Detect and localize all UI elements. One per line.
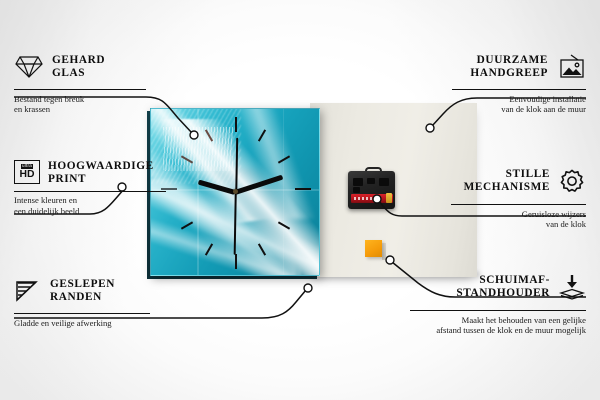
connector-endpoint — [304, 284, 312, 292]
feature-body-line2: van de klok aan de muur — [452, 104, 586, 115]
hour-tick — [235, 254, 237, 269]
feature-title-line2: RANDEN — [50, 291, 115, 304]
battery-label — [354, 197, 380, 200]
movement-slot — [379, 178, 389, 186]
movement-slot — [353, 187, 360, 193]
feature-body-line2: een duidelijk beeld — [14, 206, 166, 217]
feature-title-line1: STILLE — [464, 168, 550, 181]
feature-divider — [451, 204, 586, 205]
second-hand-tail — [235, 137, 237, 192]
feature-body-line1: Maakt het behouden van een gelijke — [410, 315, 586, 326]
feature-body-line1: Bestand tegen breuk — [14, 94, 146, 105]
feature-title-line1: GEHARD — [52, 54, 105, 67]
hour-tick — [295, 188, 311, 190]
clock-movement — [348, 167, 395, 209]
feature-body-line1: Intense kleuren en — [14, 195, 166, 206]
feature-divider — [14, 191, 166, 192]
clock-face — [150, 108, 320, 276]
feature-geslepen-randen: GESLEPEN RANDEN Gladde en veilige afwerk… — [14, 278, 150, 328]
beveled-edges-icon — [14, 278, 42, 309]
feature-duurzame-handgreep: DUURZAME HANDGREEP Eenvoudige installati… — [452, 54, 586, 115]
feature-body-line2: van de klok — [451, 219, 586, 230]
clock-hub — [233, 189, 238, 194]
ultra-hd-large-label: HD — [19, 170, 34, 180]
feature-body-line2: en krassen — [14, 104, 146, 115]
feature-body-line2: afstand tussen de klok en de muur mogeli… — [410, 325, 586, 336]
feature-divider — [452, 89, 586, 90]
feature-title-line2: STANDHOUDER — [456, 287, 550, 300]
feature-divider — [14, 89, 146, 90]
foam-pad-side — [382, 243, 386, 260]
feature-title-line1: HOOGWAARDIGE — [48, 160, 154, 173]
feature-title-line1: DUURZAME — [470, 54, 548, 67]
feature-gehard-glas: GEHARD GLAS Bestand tegen breuk en krass… — [14, 54, 146, 115]
battery-terminal — [386, 193, 392, 203]
hour-tick — [235, 117, 237, 132]
feature-body-line1: Geruisloze wijzers — [451, 209, 586, 220]
feature-body-line1: Gladde en veilige afwerking — [14, 318, 150, 329]
foam-spacer-pad — [365, 240, 382, 257]
product-clock — [150, 108, 320, 276]
movement-slot — [367, 178, 375, 184]
feature-title-line2: HANDGREEP — [470, 67, 548, 80]
diamond-icon — [14, 54, 44, 85]
feature-title-line2: GLAS — [52, 67, 105, 80]
feature-schuimaf-standhouder: SCHUIMAF- STANDHOUDER Maakt het behouden… — [410, 274, 586, 336]
feature-title-line2: MECHANISME — [464, 181, 550, 194]
feature-divider — [14, 313, 150, 314]
feature-body-line1: Eenvoudige installatie — [452, 94, 586, 105]
feature-divider — [410, 310, 586, 311]
infographic-canvas: GEHARD GLAS Bestand tegen breuk en krass… — [0, 0, 600, 400]
feature-title-line1: GESLEPEN — [50, 278, 115, 291]
foam-spacer-icon — [558, 274, 586, 306]
feature-title-line2: PRINT — [48, 173, 154, 186]
feature-hoogwaardige-print: ultra HD HOOGWAARDIGE PRINT Intense kleu… — [14, 160, 166, 217]
ultra-hd-icon: ultra HD — [14, 160, 40, 184]
framed-picture-icon — [556, 54, 586, 85]
gear-icon — [558, 168, 586, 200]
feature-title-line1: SCHUIMAF- — [456, 274, 550, 287]
movement-slot — [353, 178, 363, 186]
feature-stille-mechanisme: STILLE MECHANISME Geruisloze wijzers van… — [451, 168, 586, 230]
